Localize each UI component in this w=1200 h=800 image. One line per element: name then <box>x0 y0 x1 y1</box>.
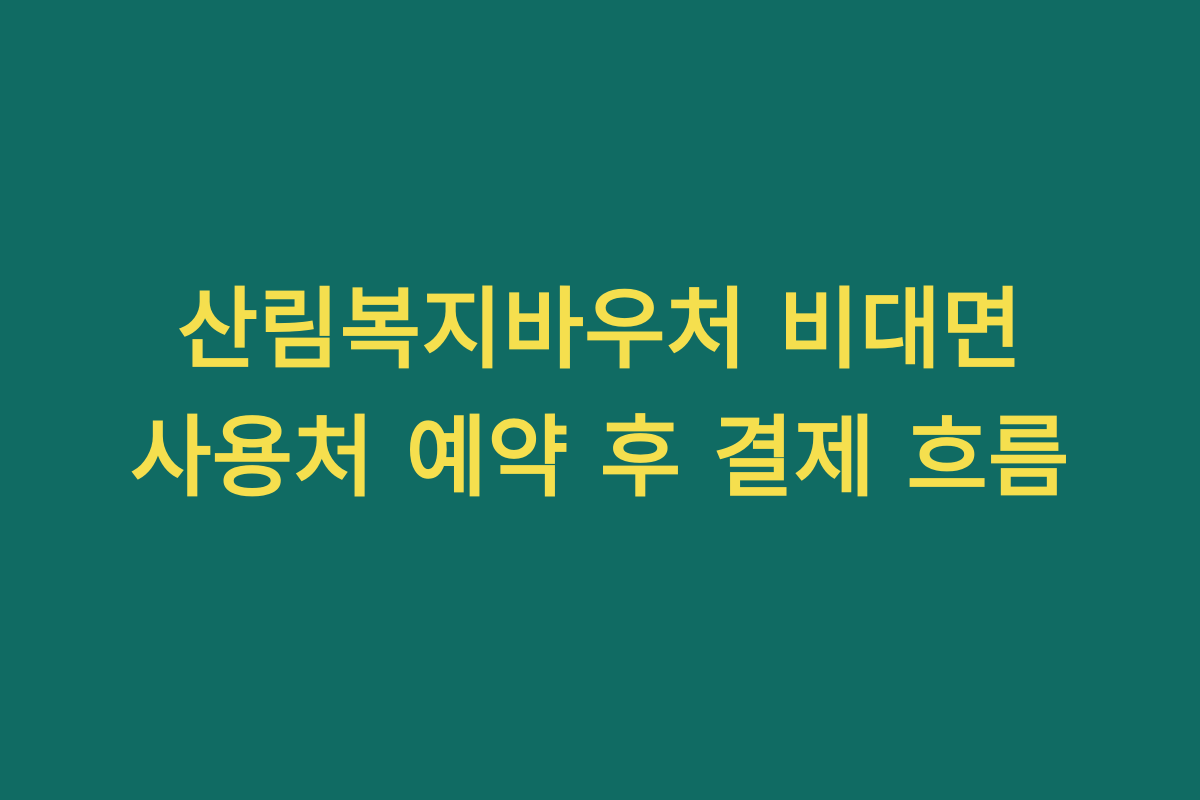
banner-container: 산림복지바우처 비대면 사용처 예약 후 결제 흐름 <box>0 0 1200 800</box>
page-title: 산림복지바우처 비대면 사용처 예약 후 결제 흐름 <box>96 266 1104 523</box>
